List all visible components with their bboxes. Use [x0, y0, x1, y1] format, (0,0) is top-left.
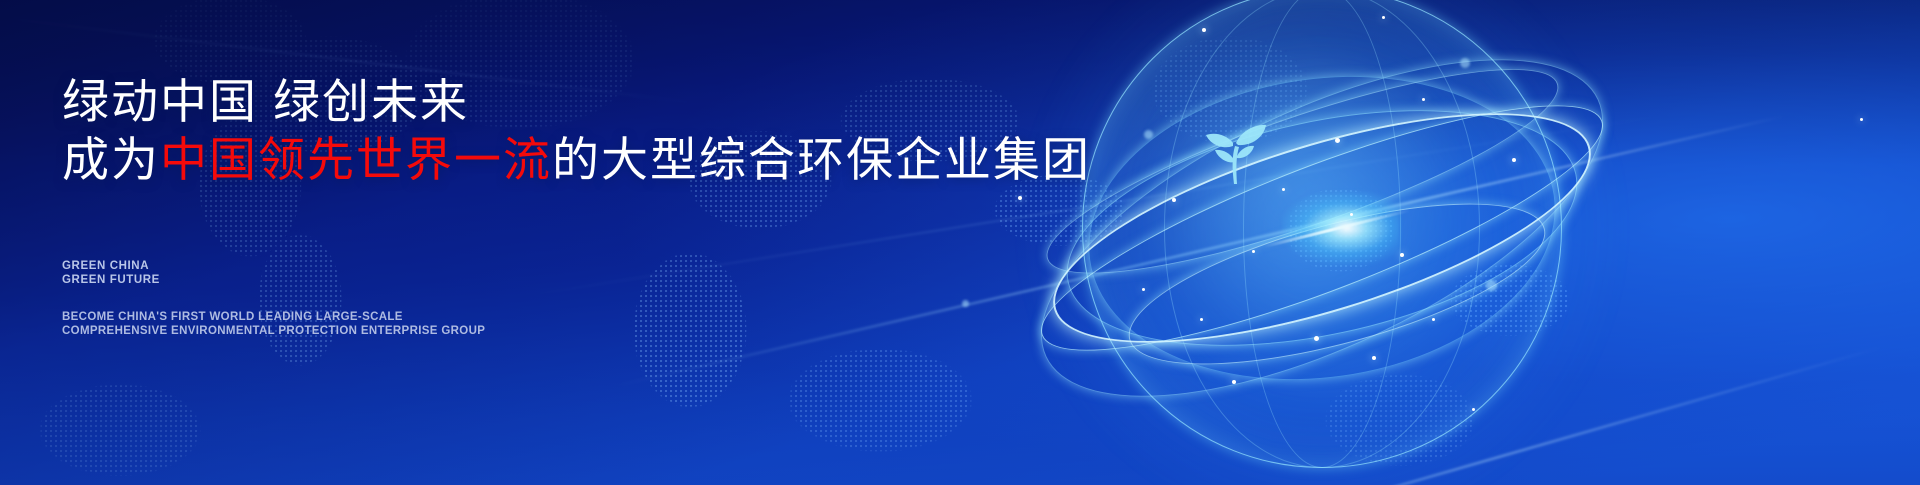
orbital-ring — [1030, 66, 1615, 390]
globe-meridian — [1164, 0, 1481, 468]
sparkle-dot — [1860, 118, 1863, 121]
background-glow — [1150, 40, 1450, 340]
tagline-line-1: GREEN CHINA — [62, 259, 160, 273]
subline-line-2: COMPREHENSIVE ENVIRONMENTAL PROTECTION E… — [62, 325, 485, 339]
sparkle-dot — [1018, 196, 1022, 200]
sparkle-dot — [1335, 138, 1340, 143]
orbital-ring — [1029, 31, 1575, 311]
sparkle-dot — [962, 300, 969, 307]
globe-meridian — [1243, 0, 1401, 468]
sparkle-dot — [1372, 356, 1376, 360]
sparkle-dot — [1232, 380, 1236, 384]
headline-suffix: 的大型综合环保企业集团 — [552, 133, 1091, 186]
hero-banner: 绿动中国 绿创未来 成为中国领先世界一流的大型综合环保企业集团 GREEN CH… — [0, 0, 1920, 485]
orbital-ring — [995, 0, 1649, 466]
globe-halo — [1012, 0, 1632, 485]
sparkle-dot — [1400, 253, 1404, 257]
subline-line-1: BECOME CHINA'S FIRST WORLD LEADING LARGE… — [62, 311, 485, 325]
sparkle-dot — [1486, 280, 1497, 291]
orbital-ring — [1045, 69, 1598, 386]
sparkle-dot — [1350, 213, 1353, 216]
headline-prefix: 成为 — [62, 133, 160, 186]
sparkle-dot — [1512, 158, 1516, 162]
sparkle-dot — [1422, 98, 1425, 101]
headline-line-2: 成为中国领先世界一流的大型综合环保企业集团 — [62, 136, 1091, 183]
sparkle-dot — [1314, 336, 1319, 341]
orbital-ring — [1114, 170, 1560, 397]
orbital-ring — [1068, 47, 1575, 409]
sparkle-dot — [1252, 250, 1255, 253]
sparkle-dot — [1432, 318, 1435, 321]
sparkle-dot — [1282, 188, 1285, 191]
subline: BECOME CHINA'S FIRST WORLD LEADING LARGE… — [62, 311, 485, 338]
orbital-ring — [1019, 62, 1624, 395]
globe-core-glow — [1282, 191, 1400, 265]
tagline: GREEN CHINA GREEN FUTURE — [62, 259, 160, 287]
sparkle-dot — [1460, 58, 1470, 68]
dotted-world-map-background — [0, 0, 1920, 485]
headline-highlight: 中国领先世界一流 — [160, 133, 552, 186]
background-vignette — [0, 0, 1920, 485]
globe-outline — [1082, 0, 1562, 468]
sparkle-dot — [1144, 130, 1153, 139]
sparkle-dot — [1472, 408, 1475, 411]
dotted-world-map-background-secondary — [0, 0, 1920, 485]
globe-meridian — [1082, 0, 1562, 468]
globe-core-spark — [1264, 208, 1410, 247]
sparkle-dot — [1172, 198, 1176, 202]
sprout-icon — [1190, 110, 1276, 188]
tagline-line-2: GREEN FUTURE — [62, 273, 160, 287]
sparkle-dot — [1200, 318, 1203, 321]
sparkle-dot — [1142, 288, 1145, 291]
light-streak — [1017, 346, 1883, 485]
sparkle-dot — [1382, 16, 1385, 19]
headline-line-1: 绿动中国 绿创未来 — [62, 78, 469, 125]
sparkle-dot — [1202, 28, 1206, 32]
globe-graphic — [1082, 0, 1562, 468]
globe-sphere — [1082, 0, 1562, 468]
